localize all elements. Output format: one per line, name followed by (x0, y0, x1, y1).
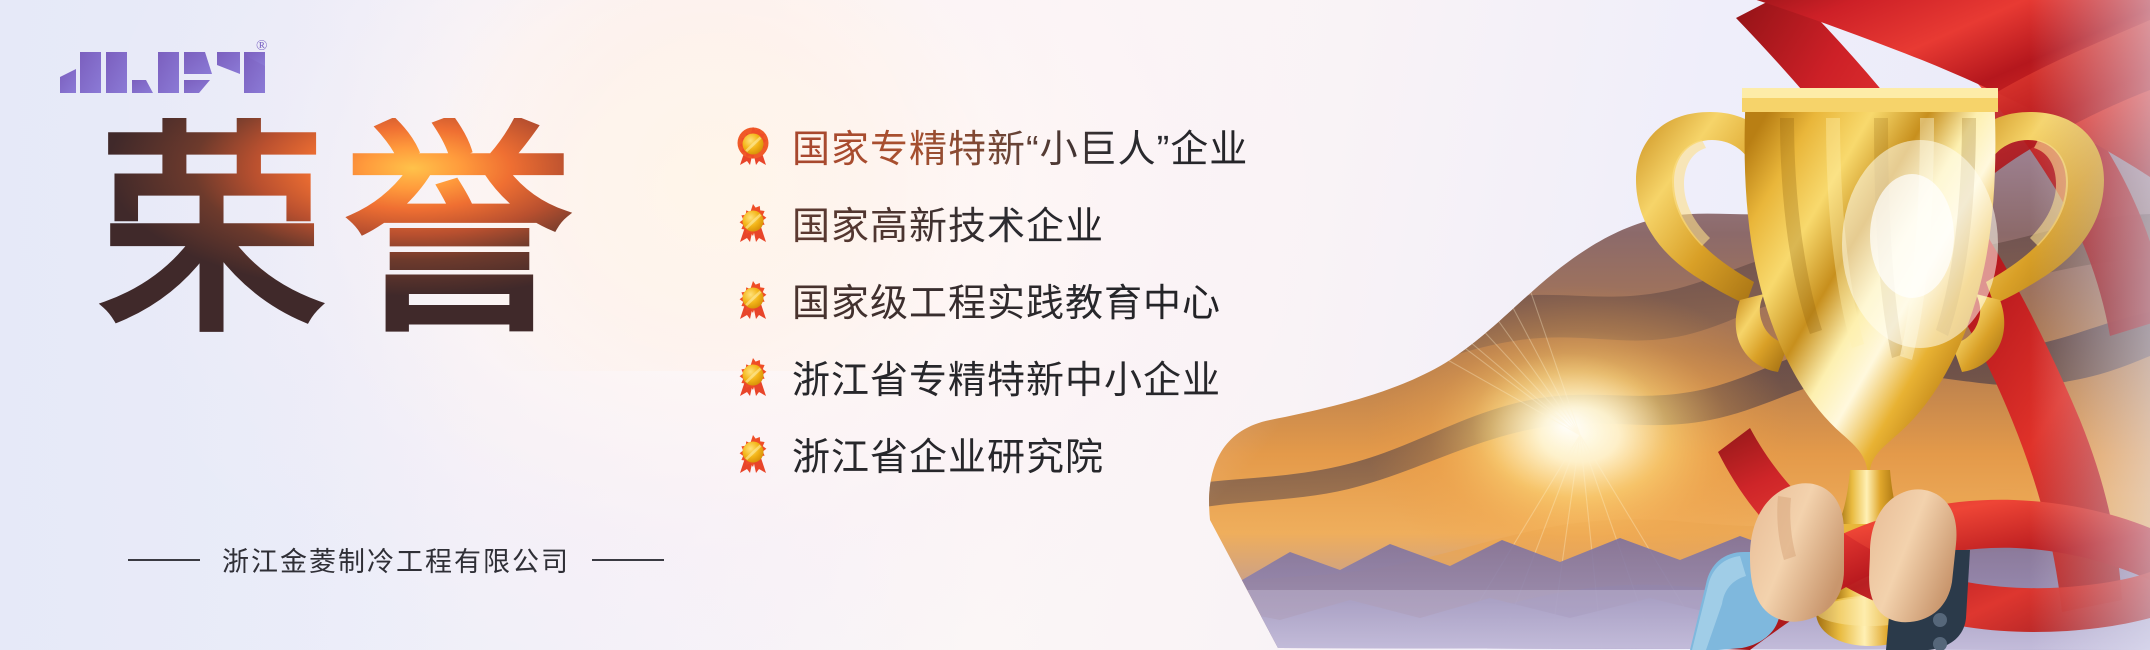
award-medal-icon (736, 126, 770, 166)
honors-list: 国家专精特新“小巨人”企业 国家高新技术企业 国家级工程实践教育中心 (736, 118, 1248, 481)
list-item: 国家高新技术企业 (736, 195, 1248, 250)
honor-label: 国家高新技术企业 (792, 195, 1104, 250)
registered-trademark-icon: ® (256, 38, 267, 55)
list-item: 浙江省专精特新中小企业 (736, 349, 1248, 404)
company-signature: 浙江金菱制冷工程有限公司 (128, 540, 664, 579)
rule-left (128, 559, 200, 561)
award-medal-icon (736, 280, 770, 320)
honors-banner: ® 荣誉 浙江金菱制冷工程有限公司 (0, 0, 2150, 650)
company-logo[interactable]: ® (60, 36, 280, 96)
award-medal-icon (736, 203, 770, 243)
logo-mark-icon (60, 36, 280, 96)
honor-label: 国家级工程实践教育中心 (792, 272, 1221, 327)
honor-label: 浙江省企业研究院 (792, 426, 1104, 481)
list-item: 浙江省企业研究院 (736, 426, 1248, 481)
rule-right (592, 559, 664, 561)
page-title: 荣誉 (98, 118, 590, 346)
honor-label: 浙江省专精特新中小企业 (792, 349, 1221, 404)
trophy-artwork-svg (1150, 0, 2150, 650)
list-item: 国家级工程实践教育中心 (736, 272, 1248, 327)
trophy-sunset-photo (1150, 0, 2150, 650)
company-name: 浙江金菱制冷工程有限公司 (222, 540, 570, 579)
award-medal-icon (736, 357, 770, 397)
award-medal-icon (736, 434, 770, 474)
honor-label: 国家专精特新“小巨人”企业 (792, 118, 1248, 173)
list-item: 国家专精特新“小巨人”企业 (736, 118, 1248, 173)
